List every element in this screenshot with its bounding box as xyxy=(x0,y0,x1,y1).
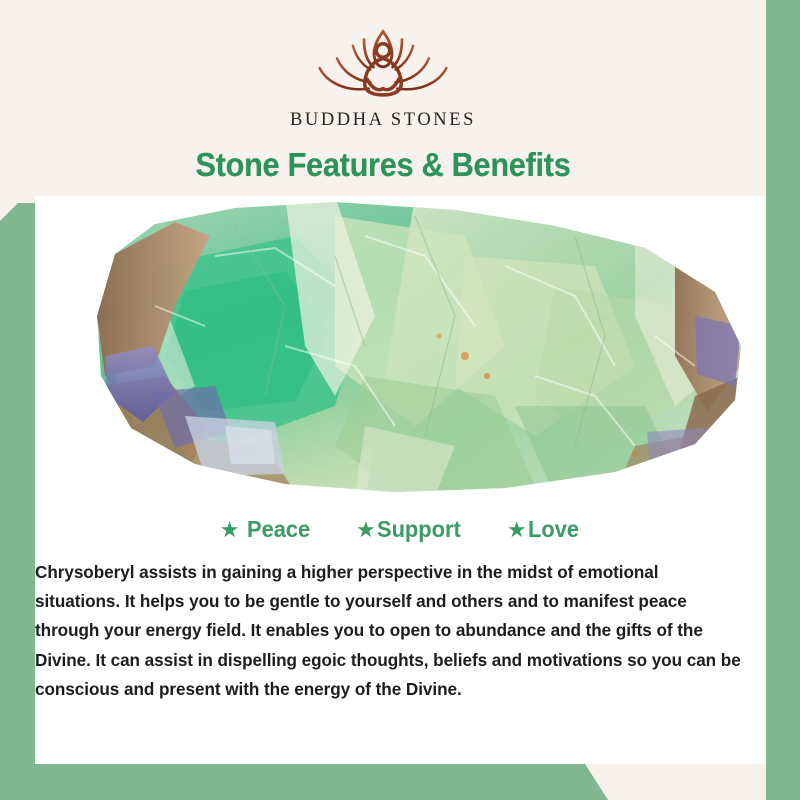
frame-right-bar xyxy=(766,0,800,800)
star-icon: ★ xyxy=(356,519,376,541)
header-panel: BUDDHA STONES Stone Features & Benefits xyxy=(0,0,766,196)
stone-photo: Chrysoberyl（Cat's Eye） xyxy=(35,196,766,501)
star-icon: ★ xyxy=(507,519,527,541)
frame-left-bar xyxy=(0,203,35,800)
page-title: Stone Features & Benefits xyxy=(27,146,739,184)
benefit-keyword-support: ★ Support xyxy=(356,516,465,543)
brand-name: BUDDHA STONES xyxy=(290,110,476,131)
benefit-keywords: ★ Peace ★ Support ★ Love xyxy=(35,516,766,543)
benefit-keyword-peace: ★ Peace xyxy=(220,516,314,543)
brand-logo: BUDDHA STONES xyxy=(0,22,766,131)
benefit-keyword-label: Support xyxy=(377,516,461,543)
benefit-keyword-love: ★ Love xyxy=(507,516,581,543)
content-panel: ★ Peace ★ Support ★ Love Chrysoberyl ass… xyxy=(35,501,766,764)
chrysoberyl-specimen-image xyxy=(35,196,766,501)
star-icon: ★ xyxy=(220,519,240,541)
infographic-card: BUDDHA STONES Stone Features & Benefits xyxy=(0,0,800,800)
description-paragraph: Chrysoberyl assists in gaining a higher … xyxy=(35,558,747,704)
frame-bottom-bar xyxy=(0,764,800,800)
lotus-meditation-icon xyxy=(303,22,463,106)
benefit-keyword-label: Peace xyxy=(247,516,310,543)
benefit-keyword-label: Love xyxy=(528,516,579,543)
